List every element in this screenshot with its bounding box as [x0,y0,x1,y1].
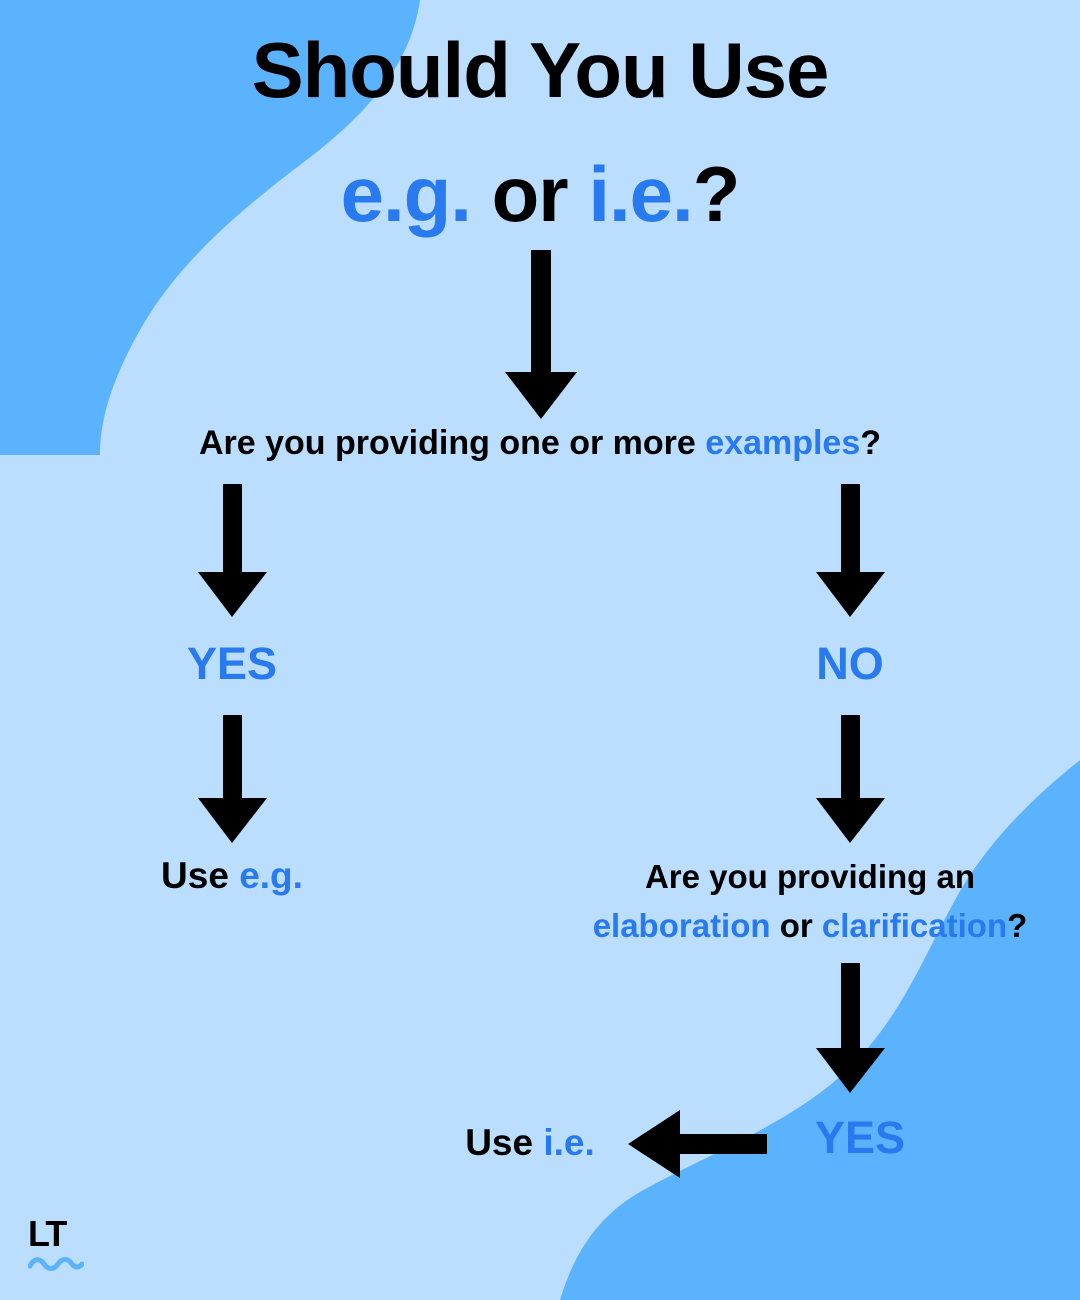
question-one-highlight: examples [705,424,860,462]
wave-icon [28,1256,84,1272]
title-or-text: or [471,150,588,238]
question-one-suffix: ? [860,424,881,462]
question-one: Are you providing one or more examples? [0,421,1080,465]
question-two-line-1: Are you providing an [645,858,975,895]
logo[interactable]: LT [28,1216,108,1276]
branch-label-yes-2: YES [760,1112,960,1164]
title-ie-text: i.e. [588,150,692,238]
outcome-use-ie-prefix: Use [465,1122,543,1163]
question-two-highlight-clarification: clarification [822,907,1007,944]
title-eg-text: e.g. [341,150,471,238]
question-one-prefix: Are you providing one or more [199,424,705,462]
page-title-line-1: Should You Use [0,28,1080,112]
outcome-use-eg-prefix: Use [161,855,239,896]
outcome-use-ie-highlight: i.e. [543,1122,594,1163]
title-question-mark: ? [693,150,740,238]
outcome-use-eg: Use e.g. [132,855,332,897]
question-two: Are you providing anelaboration or clari… [540,852,1080,950]
question-two-or-text: or [771,907,822,944]
branch-label-yes-1: YES [132,638,332,690]
question-two-highlight-elaboration: elaboration [593,907,771,944]
outcome-use-ie: Use i.e. [430,1122,630,1164]
title-line-1-text: Should You Use [252,26,829,114]
outcome-use-eg-highlight: e.g. [239,855,303,896]
branch-label-no-1: NO [750,638,950,690]
question-two-question-mark: ? [1007,907,1027,944]
page-title-line-2: e.g. or i.e.? [0,152,1080,236]
logo-text: LT [28,1216,65,1252]
